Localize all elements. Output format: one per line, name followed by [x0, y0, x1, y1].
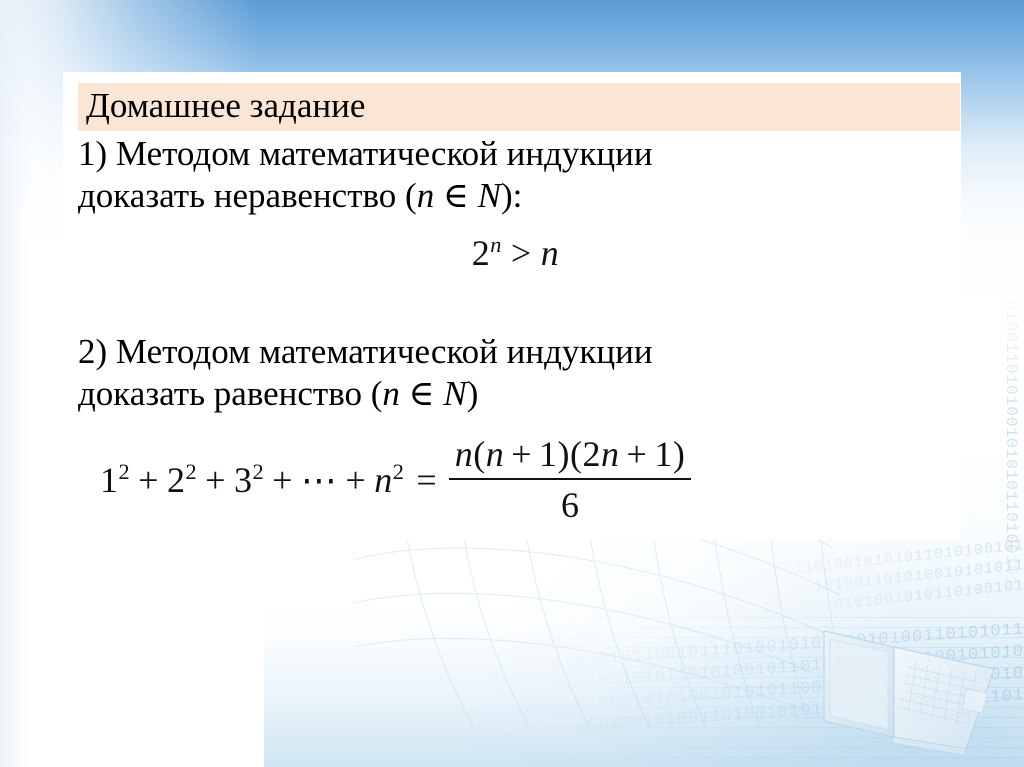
num-close-2: )	[673, 434, 686, 474]
num-one-2: 1	[654, 434, 673, 474]
task-2-line2-post: )	[467, 374, 479, 413]
task-1-elem-of: ∈	[434, 176, 477, 215]
formula-2-fraction: n(n+1)(2n+1) 6	[449, 433, 692, 526]
background-tech-streaks	[384, 617, 1024, 767]
num-n-2: n	[486, 434, 505, 474]
slide-canvas: 110100101010110101001011 101001101010010…	[0, 0, 1024, 767]
num-close-1: )	[558, 434, 571, 474]
formula-2-exp-3: 2	[252, 459, 264, 484]
formula-2-exp-2: 2	[185, 459, 197, 484]
task-2-line2-pre: доказать равенство (	[78, 374, 382, 413]
formula-2-plus-1: +	[130, 460, 167, 500]
formula-2-exp-1: 2	[119, 459, 131, 484]
task-1-line-1: 1) Методом математической индукции	[78, 134, 653, 173]
formula-2-ellipsis: ⋯	[301, 460, 338, 500]
num-n-1: n	[455, 434, 474, 474]
content-panel: Домашнее задание 1) Методом математическ…	[63, 72, 961, 540]
formula-2-numerator: n(n+1)(2n+1)	[449, 433, 692, 478]
formula-2-left-side: 12+22+32+⋯+n2	[100, 459, 404, 501]
task-1-var-n: n	[417, 176, 435, 215]
task-2-formula: 12+22+32+⋯+n2 = n(n+1)(2n+1) 6	[100, 433, 953, 526]
task-spacer	[78, 275, 953, 331]
background-left-wash	[0, 0, 30, 767]
body-block: 1) Методом математической индукции доказ…	[78, 133, 953, 526]
formula-2-exp-n: 2	[393, 459, 405, 484]
task-1-formula: 2n>n	[78, 231, 953, 275]
num-open-2: (	[570, 434, 583, 474]
formula-2-denominator: 6	[555, 480, 585, 526]
formula-1-relation: >	[502, 233, 541, 273]
num-n-3: n	[601, 434, 620, 474]
task-1-line2-pre: доказать неравенство (	[78, 176, 417, 215]
formula-2-term-1: 1	[100, 460, 119, 500]
task-1-line-2: доказать неравенство (n ∈ N):	[78, 175, 953, 217]
task-2-line-2: доказать равенство (n ∈ N)	[78, 373, 953, 415]
formula-1-exponent: n	[490, 232, 502, 257]
num-open-1: (	[473, 434, 486, 474]
task-2-set-N: N	[443, 374, 466, 413]
task-2-line-1: 2) Методом математической индукции	[78, 332, 653, 371]
formula-1-rhs: n	[541, 233, 560, 273]
task-2-var-n: n	[382, 374, 400, 413]
formula-2-term-3: 3	[234, 460, 253, 500]
num-plus-1: +	[504, 434, 539, 474]
page-title: Домашнее задание	[86, 85, 960, 127]
num-plus-2: +	[620, 434, 655, 474]
formula-2-equals: =	[404, 459, 448, 501]
task-1-text: 1) Методом математической индукции доказ…	[78, 133, 953, 217]
formula-1-base: 2	[472, 233, 491, 273]
task-2-elem-of: ∈	[400, 374, 443, 413]
formula-2-plus-2: +	[197, 460, 234, 500]
formula-2-plus-4: +	[337, 460, 374, 500]
num-one-1: 1	[539, 434, 558, 474]
formula-2-term-2: 2	[167, 460, 186, 500]
formula-2-term-n: n	[374, 460, 393, 500]
formula-2-plus-3: +	[264, 460, 301, 500]
task-2-text: 2) Методом математической индукции доказ…	[78, 331, 953, 415]
task-1-set-N: N	[478, 176, 501, 215]
title-band: Домашнее задание	[78, 83, 960, 131]
num-two: 2	[583, 434, 602, 474]
task-1-line2-post: ):	[501, 176, 522, 215]
